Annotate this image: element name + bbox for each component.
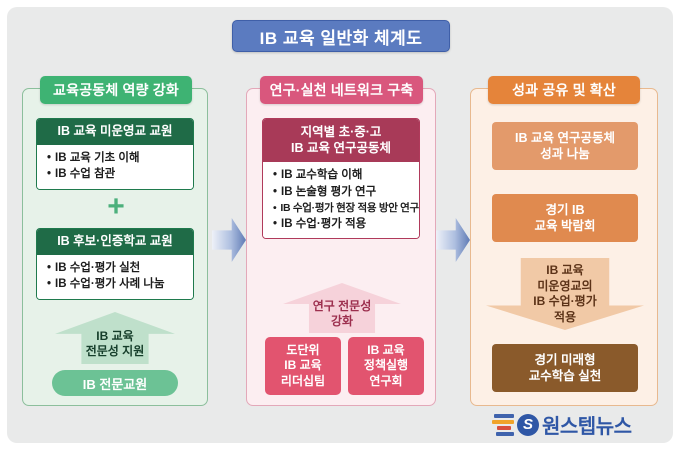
list-item: IB 수업·평가 실천 <box>47 260 187 277</box>
column-right-header: 성과 공유 및 확산 <box>488 76 640 104</box>
list-item: IB 교수학습 이해 <box>273 167 413 184</box>
logo-text: 원스텝뉴스 <box>542 410 632 439</box>
page-title: IB 교육 일반화 체계도 <box>232 20 450 52</box>
diagram-canvas: IB 교육 일반화 체계도 교육공동체 역량 강화 IB 교육 미운영교 교원 … <box>0 0 680 450</box>
box-line3: 연구회 <box>364 374 408 390</box>
plus-icon: + <box>104 196 128 220</box>
arrow-label-line2: 전문성 지원 <box>86 344 145 359</box>
box-line2: 교수학습 실천 <box>529 368 601 384</box>
box-line2: 성과 나눔 <box>515 146 615 162</box>
watermark-logo: S 원스텝뉴스 <box>492 410 632 439</box>
box-line2: 정책실행 <box>364 358 408 374</box>
card-body: IB 교수학습 이해 IB 논술형 평가 연구 IB 수업·평가 현장 적용 방… <box>263 162 419 238</box>
box-gyeonggi-expo: 경기 IB 교육 박람회 <box>492 194 638 242</box>
arrow-label-line4: 적용 <box>533 310 597 326</box>
column-middle-header: 연구·실천 네트워크 구축 <box>260 76 423 104</box>
arrow-label-line2: 강화 <box>331 314 353 329</box>
box-future-teaching-practice: 경기 미래형 교수학습 실천 <box>492 344 638 392</box>
logo-bars-icon <box>492 414 514 436</box>
card-title-line1: 지역별 초·중·고 <box>265 125 417 141</box>
box-leadership-team: 도단위 IB 교육 리더십팀 <box>265 337 341 395</box>
list-item: IB 수업·평가 현장 적용 방안 연구 <box>273 201 413 216</box>
pill-expert-teacher: IB 전문교원 <box>52 370 178 396</box>
box-line2: 교육 박람회 <box>535 218 596 234</box>
card-title: IB 후보·인증학교 교원 <box>37 229 193 255</box>
list-item: IB 수업 참관 <box>47 166 187 183</box>
box-policy-research-group: IB 교육 정책실행 연구회 <box>348 337 424 395</box>
card-body: IB 수업·평가 실천 IB 수업·평가 사례 나눔 <box>37 255 193 299</box>
card-title-line2: IB 교육 연구공동체 <box>265 141 417 157</box>
card-title: IB 교육 미운영교 교원 <box>37 119 193 145</box>
arrow-label-line1: 연구 전문성 <box>313 299 372 314</box>
box-line1: IB 교육 <box>364 343 408 359</box>
column-left-header: 교육공동체 역량 강화 <box>40 76 192 104</box>
box-line1: 경기 IB <box>535 202 596 218</box>
box-share-results: IB 교육 연구공동체 성과 나눔 <box>492 122 638 170</box>
list-item: IB 수업·평가 적용 <box>273 216 413 233</box>
list-item: IB 교육 기초 이해 <box>47 150 187 167</box>
list-item: IB 논술형 평가 연구 <box>273 184 413 201</box>
box-line2: IB 교육 <box>281 358 325 374</box>
card-body: IB 교육 기초 이해 IB 수업 참관 <box>37 145 193 189</box>
card-research-community: 지역별 초·중·고 IB 교육 연구공동체 IB 교수학습 이해 IB 논술형 … <box>262 118 420 239</box>
card-non-operating-teachers: IB 교육 미운영교 교원 IB 교육 기초 이해 IB 수업 참관 <box>36 118 194 190</box>
box-line1: 경기 미래형 <box>529 352 601 368</box>
box-line1: 도단위 <box>281 343 325 359</box>
arrow-label-line1: IB 교육 <box>533 263 597 279</box>
arrow-label-line1: IB 교육 <box>96 329 133 344</box>
card-title: 지역별 초·중·고 IB 교육 연구공동체 <box>263 119 419 162</box>
card-candidate-certified-teachers: IB 후보·인증학교 교원 IB 수업·평가 실천 IB 수업·평가 사례 나눔 <box>36 228 194 300</box>
logo-mark-icon: S <box>517 414 539 436</box>
arrow-label-line2: 미운영교의 <box>533 279 597 295</box>
box-line3: 리더십팀 <box>281 374 325 390</box>
arrow-label-line3: IB 수업·평가 <box>533 294 597 310</box>
list-item: IB 수업·평가 사례 나눔 <box>47 276 187 293</box>
box-line1: IB 교육 연구공동체 <box>515 130 615 146</box>
